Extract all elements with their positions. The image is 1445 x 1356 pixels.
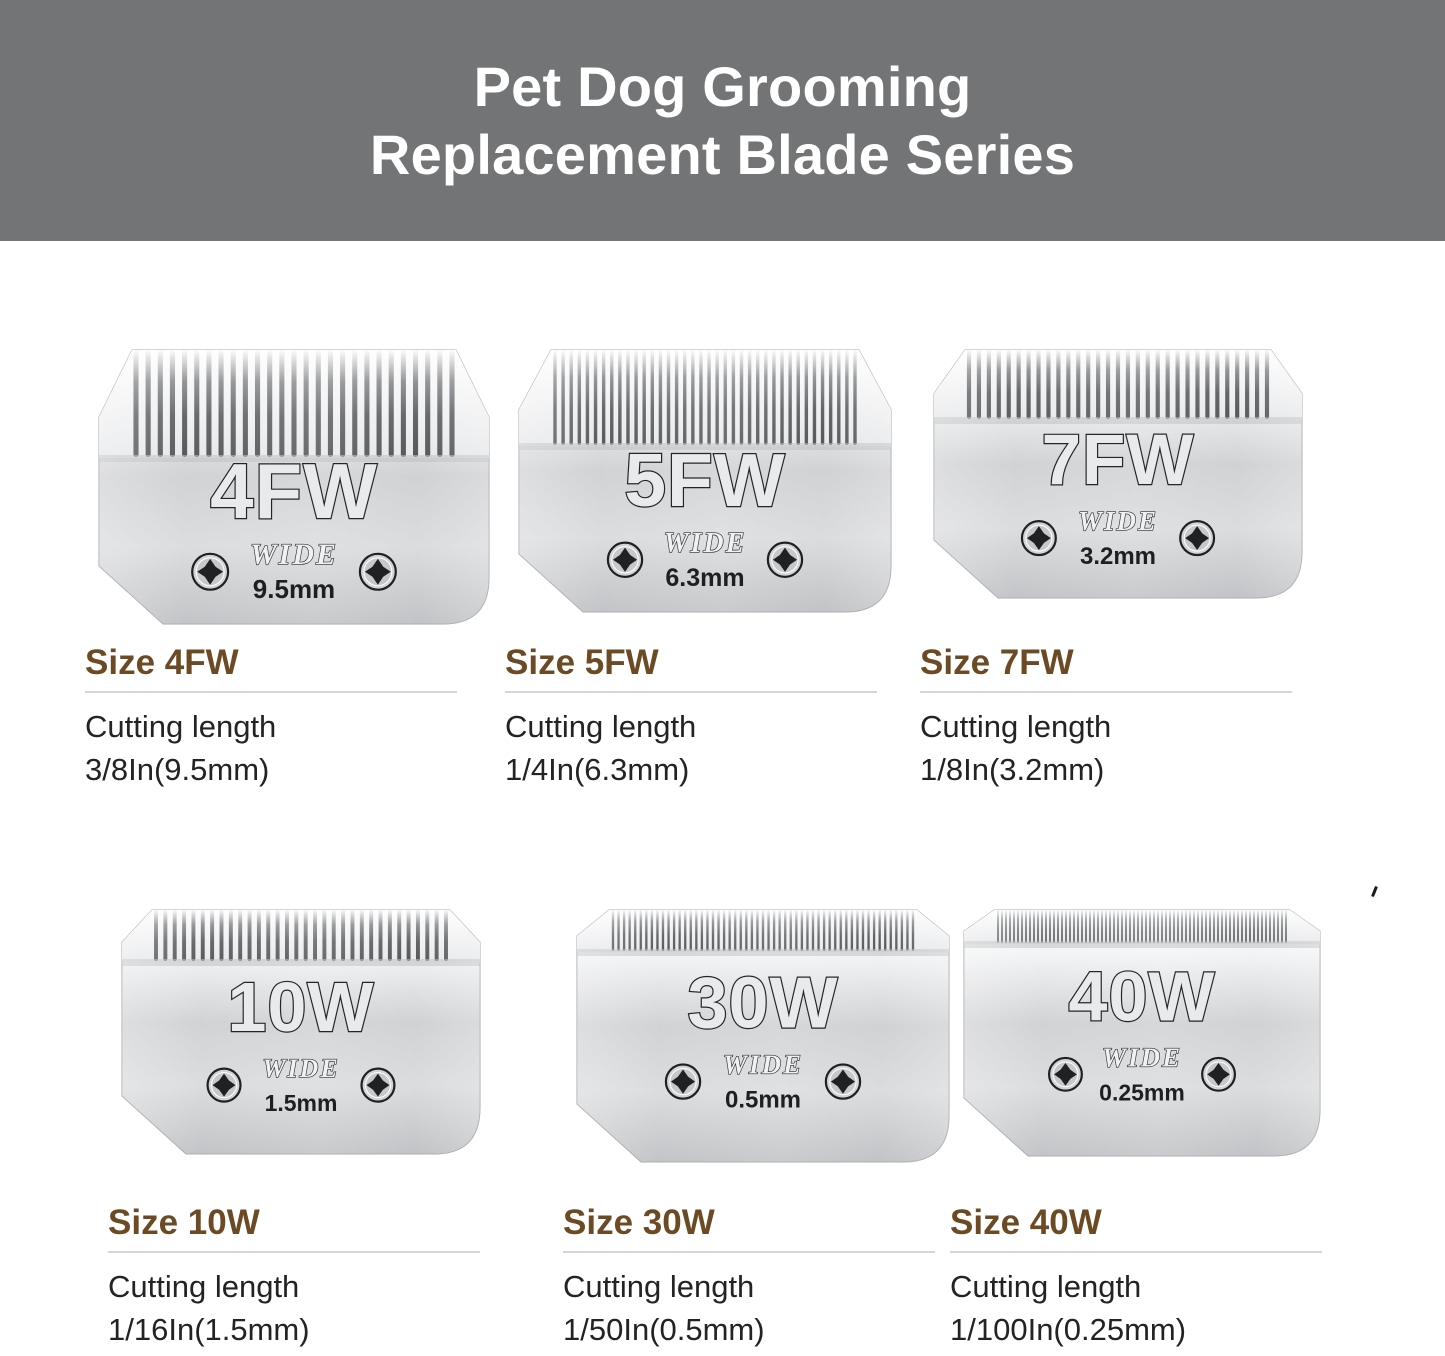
blade-size-heading: Size 7FW [920, 642, 1340, 684]
caption-divider [108, 1251, 480, 1253]
blade-caption-30W: Size 30W Cutting length 1/50In(0.5mm) [563, 1196, 983, 1351]
blade-caption-7FW: Size 7FW Cutting length 1/8In(3.2mm) [920, 636, 1340, 791]
blade-image-40W: 40W WIDE 0.25mm [950, 896, 1370, 1196]
blade-card-5FW[interactable]: 5FW WIDE 6.3mm Size 5FW Cutting length 1… [505, 336, 925, 791]
blade-grid: 4FW WIDE 9.5mm Size 4FW Cutting length 3… [0, 241, 1445, 1356]
page-title-line-1: Pet Dog Grooming [474, 53, 972, 121]
screw-icon [362, 1069, 395, 1102]
blade-size-heading: Size 40W [950, 1202, 1370, 1244]
blade-size-heading: Size 4FW [85, 642, 505, 684]
screw-icon [1049, 1058, 1082, 1091]
header-banner: Pet Dog Grooming Replacement Blade Serie… [0, 0, 1445, 241]
cutting-length-value: 1/8In(3.2mm) [920, 748, 1340, 791]
caption-divider [950, 1251, 1322, 1253]
blade-card-10W[interactable]: 10W WIDE 1.5mm Size 10W Cutting length 1… [108, 896, 528, 1351]
engraved-size-label: 10W [228, 968, 375, 1046]
engraved-mm-label: 1.5mm [265, 1090, 338, 1116]
blade-image-5FW: 5FW WIDE 6.3mm [505, 336, 925, 636]
blade-card-30W[interactable]: 30W WIDE 0.5mm Size 30W Cutting length 1… [563, 896, 983, 1351]
engraved-mm-label: 0.25mm [1099, 1079, 1185, 1105]
screw-icon [360, 554, 396, 590]
blade-illustration-5FW: 5FW WIDE 6.3mm [505, 336, 905, 626]
cutting-length-value: 1/4In(6.3mm) [505, 748, 925, 791]
engraved-wide-label: WIDE [262, 1054, 339, 1083]
screw-icon [1022, 521, 1056, 555]
blade-illustration-4FW: 4FW WIDE 9.5mm [85, 336, 503, 638]
blade-card-40W[interactable]: 40W WIDE 0.25mm Size 40W Cutting length … [950, 896, 1370, 1351]
blade-image-10W: 10W WIDE 1.5mm [108, 896, 528, 1196]
caption-divider [563, 1251, 935, 1253]
screw-icon [192, 554, 228, 590]
blade-caption-4FW: Size 4FW Cutting length 3/8In(9.5mm) [85, 636, 505, 791]
cutting-length-label: Cutting length [563, 1265, 983, 1308]
cutting-length-value: 3/8In(9.5mm) [85, 748, 505, 791]
engraved-size-label: 5FW [624, 438, 785, 522]
screw-icon [208, 1069, 241, 1102]
cutting-length-label: Cutting length [505, 705, 925, 748]
caption-divider [505, 691, 877, 693]
screw-icon [1180, 521, 1214, 555]
engraved-wide-label: WIDE [1078, 506, 1158, 536]
blade-caption-40W: Size 40W Cutting length 1/100In(0.25mm) [950, 1196, 1370, 1351]
blade-image-7FW: 7FW WIDE 3.2mm [920, 336, 1340, 636]
engraved-size-label: 7FW [1042, 421, 1195, 500]
engraved-wide-label: WIDE [1102, 1042, 1182, 1072]
screw-icon [666, 1064, 700, 1098]
engraved-mm-label: 0.5mm [725, 1087, 801, 1114]
screw-icon [1202, 1058, 1235, 1091]
engraved-mm-label: 6.3mm [665, 564, 744, 592]
blade-card-4FW[interactable]: 4FW WIDE 9.5mm Size 4FW Cutting length 3… [85, 336, 505, 791]
engraved-size-label: 30W [687, 964, 838, 1044]
cutting-length-label: Cutting length [108, 1265, 528, 1308]
screw-icon [826, 1064, 860, 1098]
engraved-mm-label: 9.5mm [253, 574, 335, 604]
engraved-wide-label: WIDE [250, 538, 338, 571]
engraved-size-label: 4FW [210, 447, 378, 535]
blade-image-30W: 30W WIDE 0.5mm [563, 896, 983, 1196]
cutting-length-value: 1/100In(0.25mm) [950, 1308, 1370, 1351]
blade-size-heading: Size 5FW [505, 642, 925, 684]
blade-illustration-30W: 30W WIDE 0.5mm [563, 896, 963, 1176]
blade-size-heading: Size 30W [563, 1202, 983, 1244]
blade-caption-5FW: Size 5FW Cutting length 1/4In(6.3mm) [505, 636, 925, 791]
blade-card-7FW[interactable]: 7FW WIDE 3.2mm Size 7FW Cutting length 1… [920, 336, 1340, 791]
blade-size-heading: Size 10W [108, 1202, 528, 1244]
blade-caption-10W: Size 10W Cutting length 1/16In(1.5mm) [108, 1196, 528, 1351]
blade-image-4FW: 4FW WIDE 9.5mm [85, 336, 505, 636]
product-infographic: Pet Dog Grooming Replacement Blade Serie… [0, 0, 1445, 1356]
screw-icon [608, 543, 642, 577]
engraved-wide-label: WIDE [664, 528, 747, 559]
screw-icon [768, 543, 802, 577]
cutting-length-value: 1/50In(0.5mm) [563, 1308, 983, 1351]
engraved-size-label: 40W [1069, 957, 1216, 1035]
cutting-length-label: Cutting length [950, 1265, 1370, 1308]
engraved-mm-label: 3.2mm [1080, 543, 1156, 570]
blade-illustration-40W: 40W WIDE 0.25mm [950, 896, 1334, 1170]
caption-divider [920, 691, 1292, 693]
engraved-wide-label: WIDE [723, 1050, 803, 1080]
blade-illustration-7FW: 7FW WIDE 3.2mm [920, 336, 1316, 612]
page-title-line-2: Replacement Blade Series [370, 121, 1075, 189]
caption-divider [85, 691, 457, 693]
blade-illustration-10W: 10W WIDE 1.5mm [108, 896, 494, 1168]
cutting-length-label: Cutting length [85, 705, 505, 748]
cutting-length-label: Cutting length [920, 705, 1340, 748]
cutting-length-value: 1/16In(1.5mm) [108, 1308, 528, 1351]
